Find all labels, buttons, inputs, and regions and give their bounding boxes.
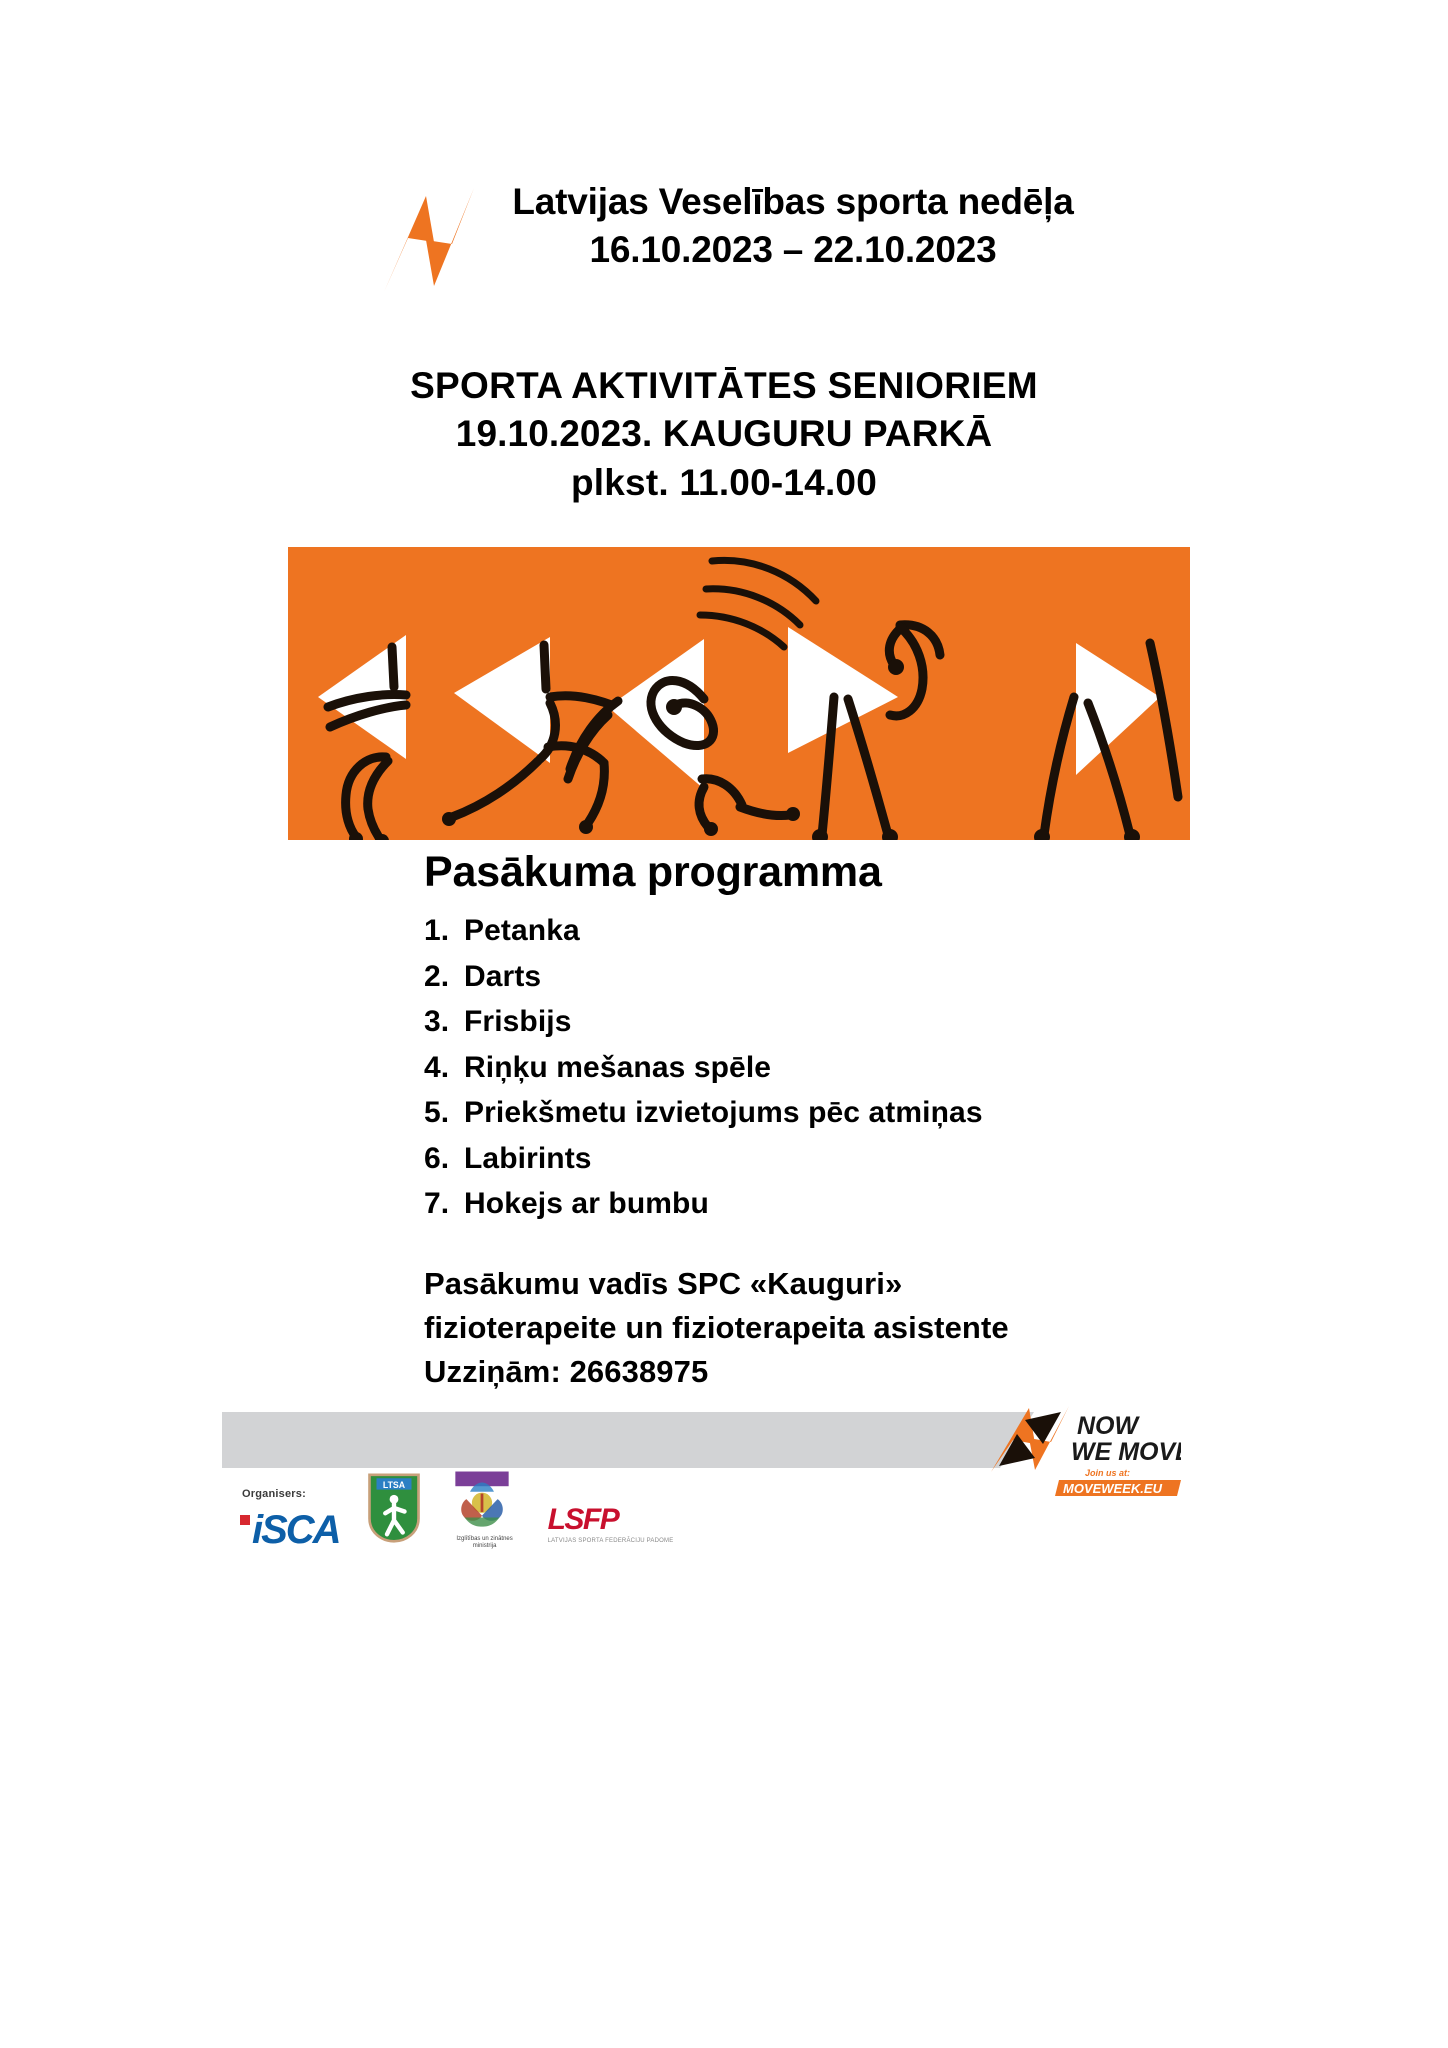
list-item-label: Riņķu mešanas spēle [464,1045,983,1091]
dancing-figures-illustration [288,547,1190,840]
contact-line-2: fizioterapeite un fizioterapeita asisten… [424,1306,1009,1350]
list-item-label: Petanka [464,908,983,954]
svg-text:NOW: NOW [1077,1412,1141,1440]
list-item: 6. Labirints [424,1136,983,1182]
list-item-number: 5. [424,1090,464,1136]
ltsa-shield-logo: LTSA [366,1471,422,1550]
ltsa-wordmark: LTSA [382,1480,405,1490]
svg-text:Join us at:: Join us at: [1085,1468,1130,1478]
subhead-line-3: plkst. 11.00-14.00 [0,459,1448,507]
organisers-label: Organisers: [242,1488,306,1500]
list-item-label: Darts [464,954,983,1000]
list-item: 1. Petanka [424,908,983,954]
lsfp-logo: LSFP LATVIJAS SPORTA FEDERĀCIJU PADOME [548,1505,674,1544]
contact-block: Pasākumu vadīs SPC «Kauguri» fizioterape… [424,1262,1009,1394]
header-line-2: 16.10.2023 – 22.10.2023 [512,226,1073,274]
lsfp-wordmark: LSFP [548,1505,674,1535]
sponsor-logos: Organisers: iSCA LTSA [240,1480,699,1550]
list-item-number: 2. [424,954,464,1000]
subhead-line-1: SPORTA AKTIVITĀTES SENIORIEM [0,362,1448,410]
latvia-coat-of-arms-logo: Izglītības un zinātnes ministrija [448,1471,522,1550]
subhead-line-2: 19.10.2023. KAUGURU PARKĀ [0,410,1448,458]
nowwemove-footer-logo: NOW WE MOVE Join us at: MOVEWEEK.EU [985,1400,1181,1500]
list-item: 4. Riņķu mešanas spēle [424,1045,983,1091]
list-item-label: Hokejs ar bumbu [464,1181,983,1227]
list-item-number: 4. [424,1045,464,1091]
svg-text:WE MOVE: WE MOVE [1071,1438,1181,1466]
svg-text:MOVEWEEK.EU: MOVEWEEK.EU [1063,1481,1163,1496]
list-item-number: 7. [424,1181,464,1227]
nowwemove-arrow-icon [374,180,484,300]
list-item-number: 1. [424,908,464,954]
isca-logo: Organisers: iSCA [240,1510,340,1550]
ministry-caption-line-2: ministrija [448,1543,522,1550]
ministry-caption: Izglītības un zinātnes ministrija [448,1536,522,1550]
list-item-label: Priekšmetu izvietojums pēc atmiņas [464,1090,983,1136]
lsfp-subtitle: LATVIJAS SPORTA FEDERĀCIJU PADOME [548,1538,674,1544]
poster-page: Latvijas Veselības sporta nedēļa 16.10.2… [0,0,1448,2048]
contact-phone: Uzziņām: 26638975 [424,1350,1009,1394]
list-item-label: Labirints [464,1136,983,1182]
list-item: 7. Hokejs ar bumbu [424,1181,983,1227]
header-line-1: Latvijas Veselības sporta nedēļa [512,178,1073,226]
list-item: 5. Priekšmetu izvietojums pēc atmiņas [424,1090,983,1136]
list-item-number: 3. [424,999,464,1045]
header-title-block: Latvijas Veselības sporta nedēļa 16.10.2… [512,168,1073,274]
contact-line-1: Pasākumu vadīs SPC «Kauguri» [424,1262,1009,1306]
programme-list: 1. Petanka 2. Darts 3. Frisbijs 4. Riņķu… [424,908,983,1227]
poster-header: Latvijas Veselības sporta nedēļa 16.10.2… [0,168,1448,300]
list-item-number: 6. [424,1136,464,1182]
list-item: 2. Darts [424,954,983,1000]
list-item: 3. Frisbijs [424,999,983,1045]
isca-wordmark: iSCA [252,1510,340,1550]
event-subheading: SPORTA AKTIVITĀTES SENIORIEM 19.10.2023.… [0,362,1448,507]
list-item-label: Frisbijs [464,999,983,1045]
ministry-caption-line-1: Izglītības un zinātnes [448,1536,522,1543]
programme-title: Pasākuma programma [424,848,882,897]
nowwemove-arrow-icon [991,1406,1069,1472]
footer-gray-band [222,1412,1034,1468]
isca-red-dot [240,1515,250,1525]
